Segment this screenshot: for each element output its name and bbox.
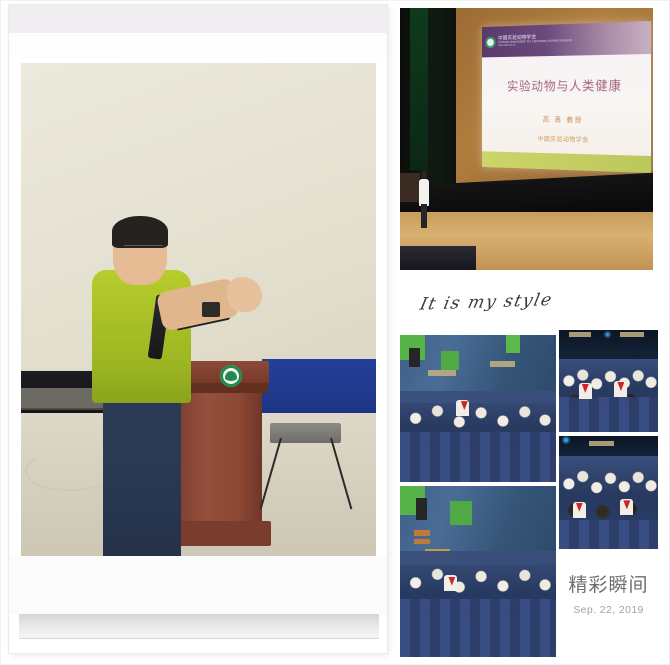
hall-standing-presenter [418, 170, 431, 228]
photo-floor-cable [25, 448, 114, 491]
slide-presenter: 高 苒 教授 [482, 114, 651, 126]
polaroid-top-margin [9, 5, 387, 33]
collage-photo-seated-students[interactable] [400, 486, 556, 657]
projected-slide: 中国实验动物学会 Chinese Association for Laborat… [482, 21, 651, 173]
polaroid-bottom-margin [9, 556, 387, 614]
hall-front-seats [400, 246, 476, 270]
photo-collage-page: 中国实验动物学会 Chinese Association for Laborat… [0, 0, 670, 665]
wall-green-panel-mid [441, 351, 460, 370]
calas-logo-icon [485, 37, 495, 48]
caption-title: 精彩瞬间 [559, 570, 658, 597]
audience-seat-rows [400, 599, 556, 657]
wall-speaker-icon [409, 348, 420, 367]
hall-green-curtain-strip [410, 8, 428, 170]
wall-speaker-icon [416, 498, 427, 520]
slide-affiliation-1: 中国实验动物学会 [482, 132, 651, 145]
wall-sign-panel-1 [569, 332, 591, 337]
collage-caption-block: 精彩瞬间 Sep. 22, 2019 [559, 570, 658, 616]
hall-presenter-legs [421, 204, 427, 228]
collage-photo-student-with-microphone[interactable] [400, 335, 556, 482]
photo-collage: 精彩瞬间 Sep. 22, 2019 [396, 330, 670, 665]
audience-seat-rows [559, 397, 658, 432]
wall-sign-orange-1 [414, 530, 430, 535]
right-column: 中国实验动物学会 Chinese Association for Laborat… [396, 0, 670, 665]
collage-photo-audience-overhead[interactable] [559, 436, 658, 549]
speaker-open-hand [227, 277, 263, 312]
polaroid-frame [9, 5, 387, 653]
collage-photo-audience-rows[interactable] [559, 330, 658, 432]
wall-sign-panel-2 [490, 361, 515, 367]
main-speaker-photo[interactable] [21, 63, 376, 556]
left-photo-panel [0, 0, 396, 665]
polaroid-top-gap [9, 33, 387, 58]
wall-sign-panel-1 [428, 370, 456, 376]
speaker-wristwatch [202, 302, 220, 317]
caption-date: Sep. 22, 2019 [559, 604, 658, 616]
speaker-hair [112, 216, 169, 248]
speaker-glasses-icon [124, 245, 163, 257]
lecture-hall-photo[interactable]: 中国实验动物学会 Chinese Association for Laborat… [400, 8, 653, 270]
polaroid-shelf-shadow [19, 614, 379, 639]
wall-sign-orange-2 [414, 539, 430, 544]
slide-title: 实验动物与人类健康 [482, 75, 651, 94]
wall-green-panel-mid [450, 501, 472, 525]
slide-header-text: 中国实验动物学会 Chinese Association for Laborat… [498, 34, 572, 47]
wall-green-panel-right [506, 335, 520, 353]
podium-base [168, 521, 271, 546]
slide-header-band: 中国实验动物学会 Chinese Association for Laborat… [482, 21, 651, 58]
hall-presenter-white-coat [419, 179, 429, 206]
podium-emblem-icon [220, 365, 242, 387]
photo-blue-panel [262, 359, 376, 418]
ceiling-blue-light-icon [563, 437, 569, 443]
audience-seat-rows [559, 520, 658, 549]
script-caption: It is my style [416, 287, 634, 324]
wall-sign-panel-2 [620, 332, 644, 337]
audience-seat-rows [400, 432, 556, 482]
wall-sign-panel-1 [589, 441, 615, 447]
